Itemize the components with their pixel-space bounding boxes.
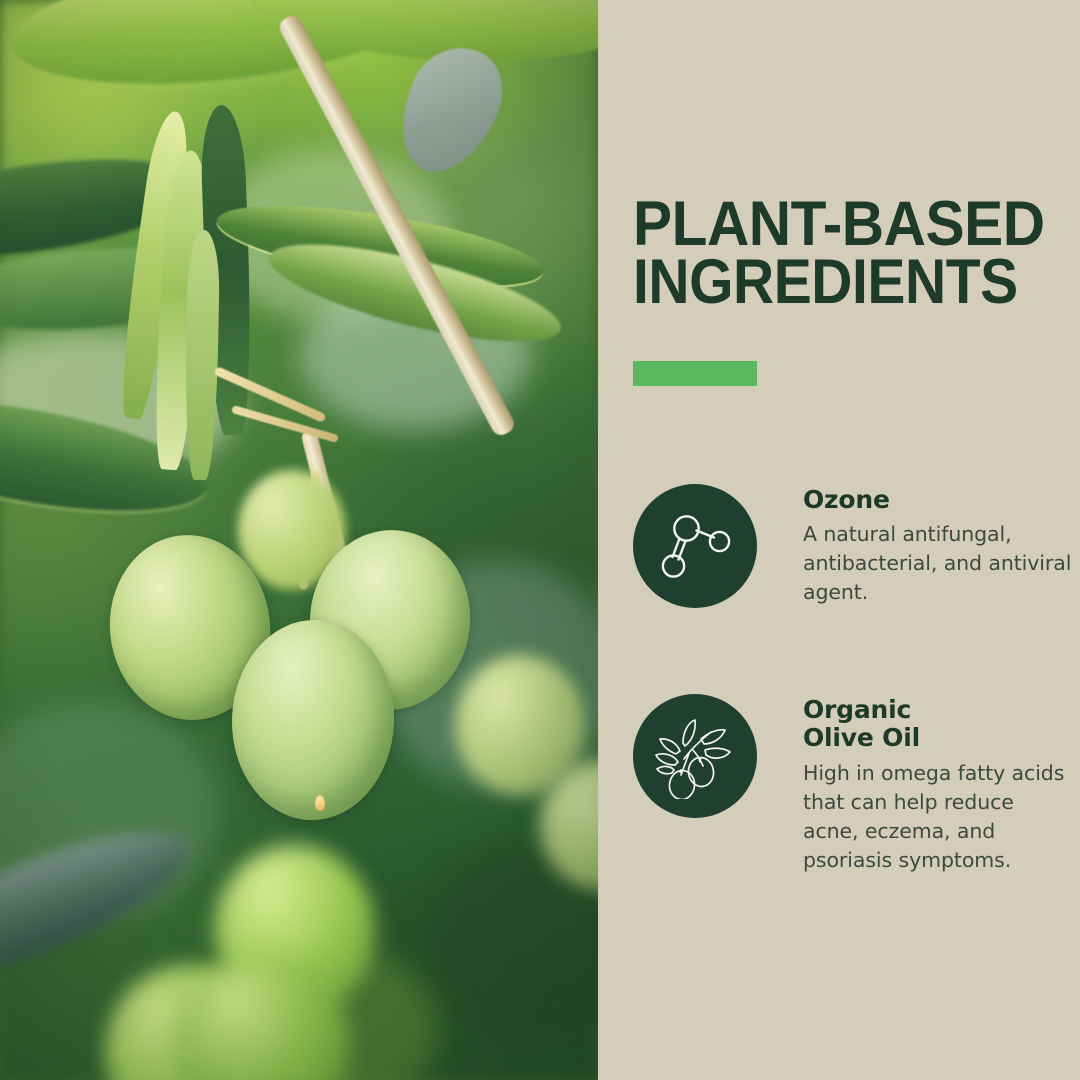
olive-branch-photo <box>0 0 598 1080</box>
olive-branch-icon <box>653 713 737 799</box>
olive-oil-icon-badge <box>633 694 757 818</box>
infographic-canvas: PLANT-BASED INGREDIENTS <box>0 0 1080 1080</box>
page-title-line-1: PLANT-BASED <box>633 196 1033 254</box>
feature-description-ozone: A natural antifungal, antibacterial, and… <box>803 520 1073 607</box>
photo-vignette <box>0 0 598 1080</box>
page-title: PLANT-BASED INGREDIENTS <box>633 196 1063 312</box>
feature-title-olive-oil: Organic Olive Oil <box>803 696 1073 752</box>
page-title-line-2: INGREDIENTS <box>633 254 1022 312</box>
feature-text-ozone: Ozone A natural antifungal, antibacteria… <box>803 484 1073 607</box>
ozone-molecule-icon <box>652 503 738 589</box>
feature-item-olive-oil: Organic Olive Oil High in omega fatty ac… <box>633 694 1073 875</box>
feature-description-olive-oil: High in omega fatty acids that can help … <box>803 759 1073 875</box>
accent-bar <box>633 361 757 386</box>
feature-text-olive-oil: Organic Olive Oil High in omega fatty ac… <box>803 694 1073 875</box>
ozone-icon-badge <box>633 484 757 608</box>
feature-title-ozone: Ozone <box>803 486 1073 514</box>
feature-item-ozone: Ozone A natural antifungal, antibacteria… <box>633 484 1073 608</box>
content-panel: PLANT-BASED INGREDIENTS <box>598 0 1080 1080</box>
